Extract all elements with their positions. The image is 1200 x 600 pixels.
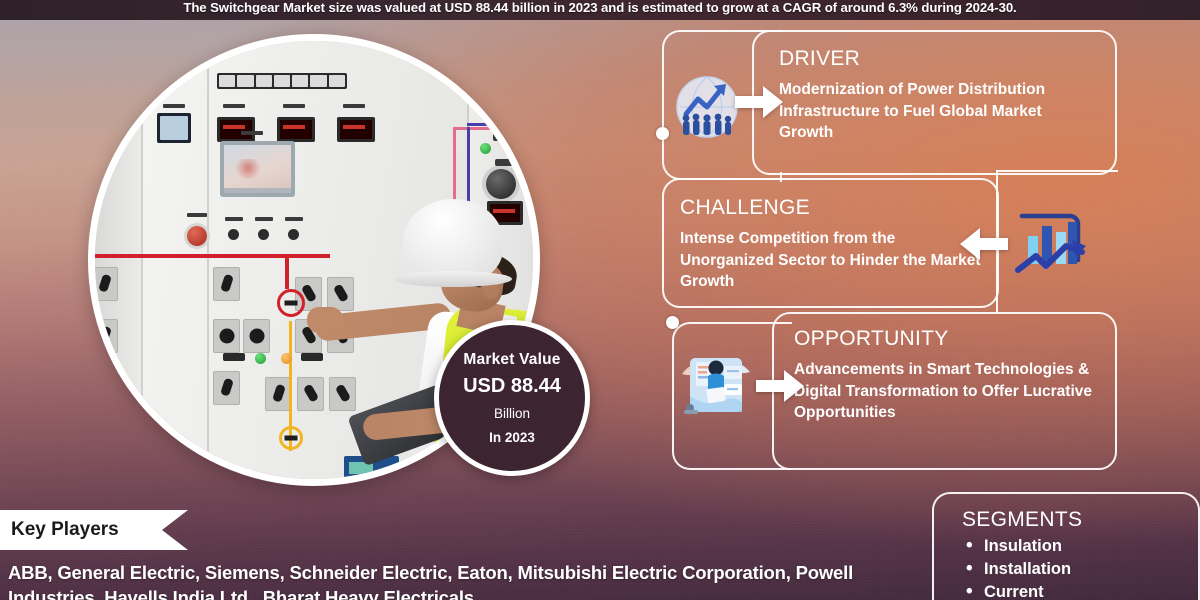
green-indicator-lamp bbox=[255, 353, 266, 364]
panel-breaker-strip bbox=[217, 73, 347, 89]
challenge-arrow-icon bbox=[960, 228, 1008, 260]
connector-dot-opportunity bbox=[666, 316, 679, 329]
challenge-body: Intense Competition from the Unorganized… bbox=[680, 228, 985, 293]
rotary-switch bbox=[95, 371, 118, 405]
key-players-names: ABB, General Electric, Siemens, Schneide… bbox=[8, 560, 908, 600]
rotary-switch bbox=[213, 267, 240, 301]
key-players-label: Key Players bbox=[11, 519, 119, 541]
panel-label bbox=[255, 217, 273, 221]
blue-trace-line bbox=[467, 123, 533, 126]
panel-label bbox=[285, 217, 303, 221]
driver-arrow-icon bbox=[735, 86, 783, 118]
highlight-ring bbox=[279, 426, 303, 450]
segment-item: Insulation bbox=[962, 535, 1198, 558]
bar-chart-icon bbox=[1012, 206, 1090, 284]
rotary-switch bbox=[213, 319, 240, 353]
market-value-badge: Market Value USD 88.44 Billion In 2023 bbox=[434, 320, 590, 476]
opportunity-box: OPPORTUNITY Advancements in Smart Techno… bbox=[772, 312, 1117, 470]
segments-title: SEGMENTS bbox=[962, 508, 1198, 532]
panel-label bbox=[223, 104, 245, 108]
market-value-unit: Billion bbox=[494, 406, 530, 421]
driver-heading: DRIVER bbox=[779, 47, 860, 71]
market-value-amount: USD 88.44 bbox=[463, 375, 561, 398]
rotary-switch bbox=[213, 371, 240, 405]
panel-label bbox=[187, 213, 207, 217]
challenge-box: CHALLENGE Intense Competition from the U… bbox=[662, 178, 999, 308]
red-marker-line bbox=[95, 254, 330, 258]
segments-panel: SEGMENTS Insulation Installation Current bbox=[932, 492, 1200, 600]
top-banner: The Switchgear Market size was valued at… bbox=[0, 0, 1200, 20]
highlight-ring bbox=[277, 289, 305, 317]
growth-globe-icon bbox=[674, 74, 740, 140]
opportunity-heading: OPPORTUNITY bbox=[794, 327, 949, 351]
panel-label bbox=[163, 104, 185, 108]
panel-label bbox=[223, 353, 245, 361]
panel-label bbox=[241, 131, 263, 135]
panel-meter bbox=[277, 117, 315, 142]
challenge-heading: CHALLENGE bbox=[680, 196, 810, 220]
segments-list: Insulation Installation Current bbox=[962, 535, 1198, 600]
digital-technology-icon bbox=[676, 346, 756, 424]
panel-meter bbox=[157, 113, 191, 143]
rotary-switch bbox=[243, 319, 270, 353]
segment-item: Current bbox=[962, 581, 1198, 600]
panel-label bbox=[343, 104, 365, 108]
red-marker-line bbox=[285, 254, 289, 289]
technician-hand bbox=[307, 307, 343, 333]
key-players-tag: Key Players bbox=[0, 510, 188, 550]
rotary-switch bbox=[95, 319, 118, 353]
panel-seam bbox=[207, 41, 209, 479]
connector-dot-driver bbox=[656, 127, 669, 140]
panel-label bbox=[225, 217, 243, 221]
emergency-stop-button bbox=[187, 226, 207, 246]
panel-meter bbox=[337, 117, 375, 142]
opportunity-body: Advancements in Smart Technologies & Dig… bbox=[794, 359, 1114, 424]
driver-box: DRIVER Modernization of Power Distributi… bbox=[752, 30, 1117, 175]
push-button bbox=[228, 229, 239, 240]
push-button bbox=[258, 229, 269, 240]
pink-trace-line bbox=[453, 127, 497, 130]
red-indicator-lamp bbox=[506, 143, 517, 154]
panel-meter-red bbox=[217, 117, 255, 142]
panel-label bbox=[283, 104, 305, 108]
opportunity-arrow-icon bbox=[756, 370, 804, 402]
panel-label bbox=[495, 159, 519, 166]
banner-text: The Switchgear Market size was valued at… bbox=[183, 0, 1016, 15]
panel-label bbox=[493, 133, 515, 141]
green-indicator-lamp bbox=[480, 143, 491, 154]
push-button bbox=[288, 229, 299, 240]
driver-body: Modernization of Power Distribution Infr… bbox=[779, 79, 1099, 144]
orange-indicator-lamp bbox=[281, 353, 292, 364]
panel-seam bbox=[141, 41, 143, 479]
rotary-switch bbox=[265, 377, 292, 411]
rotary-switch bbox=[95, 267, 118, 301]
panel-left-section bbox=[95, 41, 145, 479]
white-hard-hat bbox=[403, 199, 503, 283]
segment-item: Installation bbox=[962, 558, 1198, 581]
market-value-label: Market Value bbox=[463, 351, 560, 369]
market-value-year: In 2023 bbox=[489, 430, 535, 445]
hmi-touchscreen bbox=[220, 141, 295, 197]
